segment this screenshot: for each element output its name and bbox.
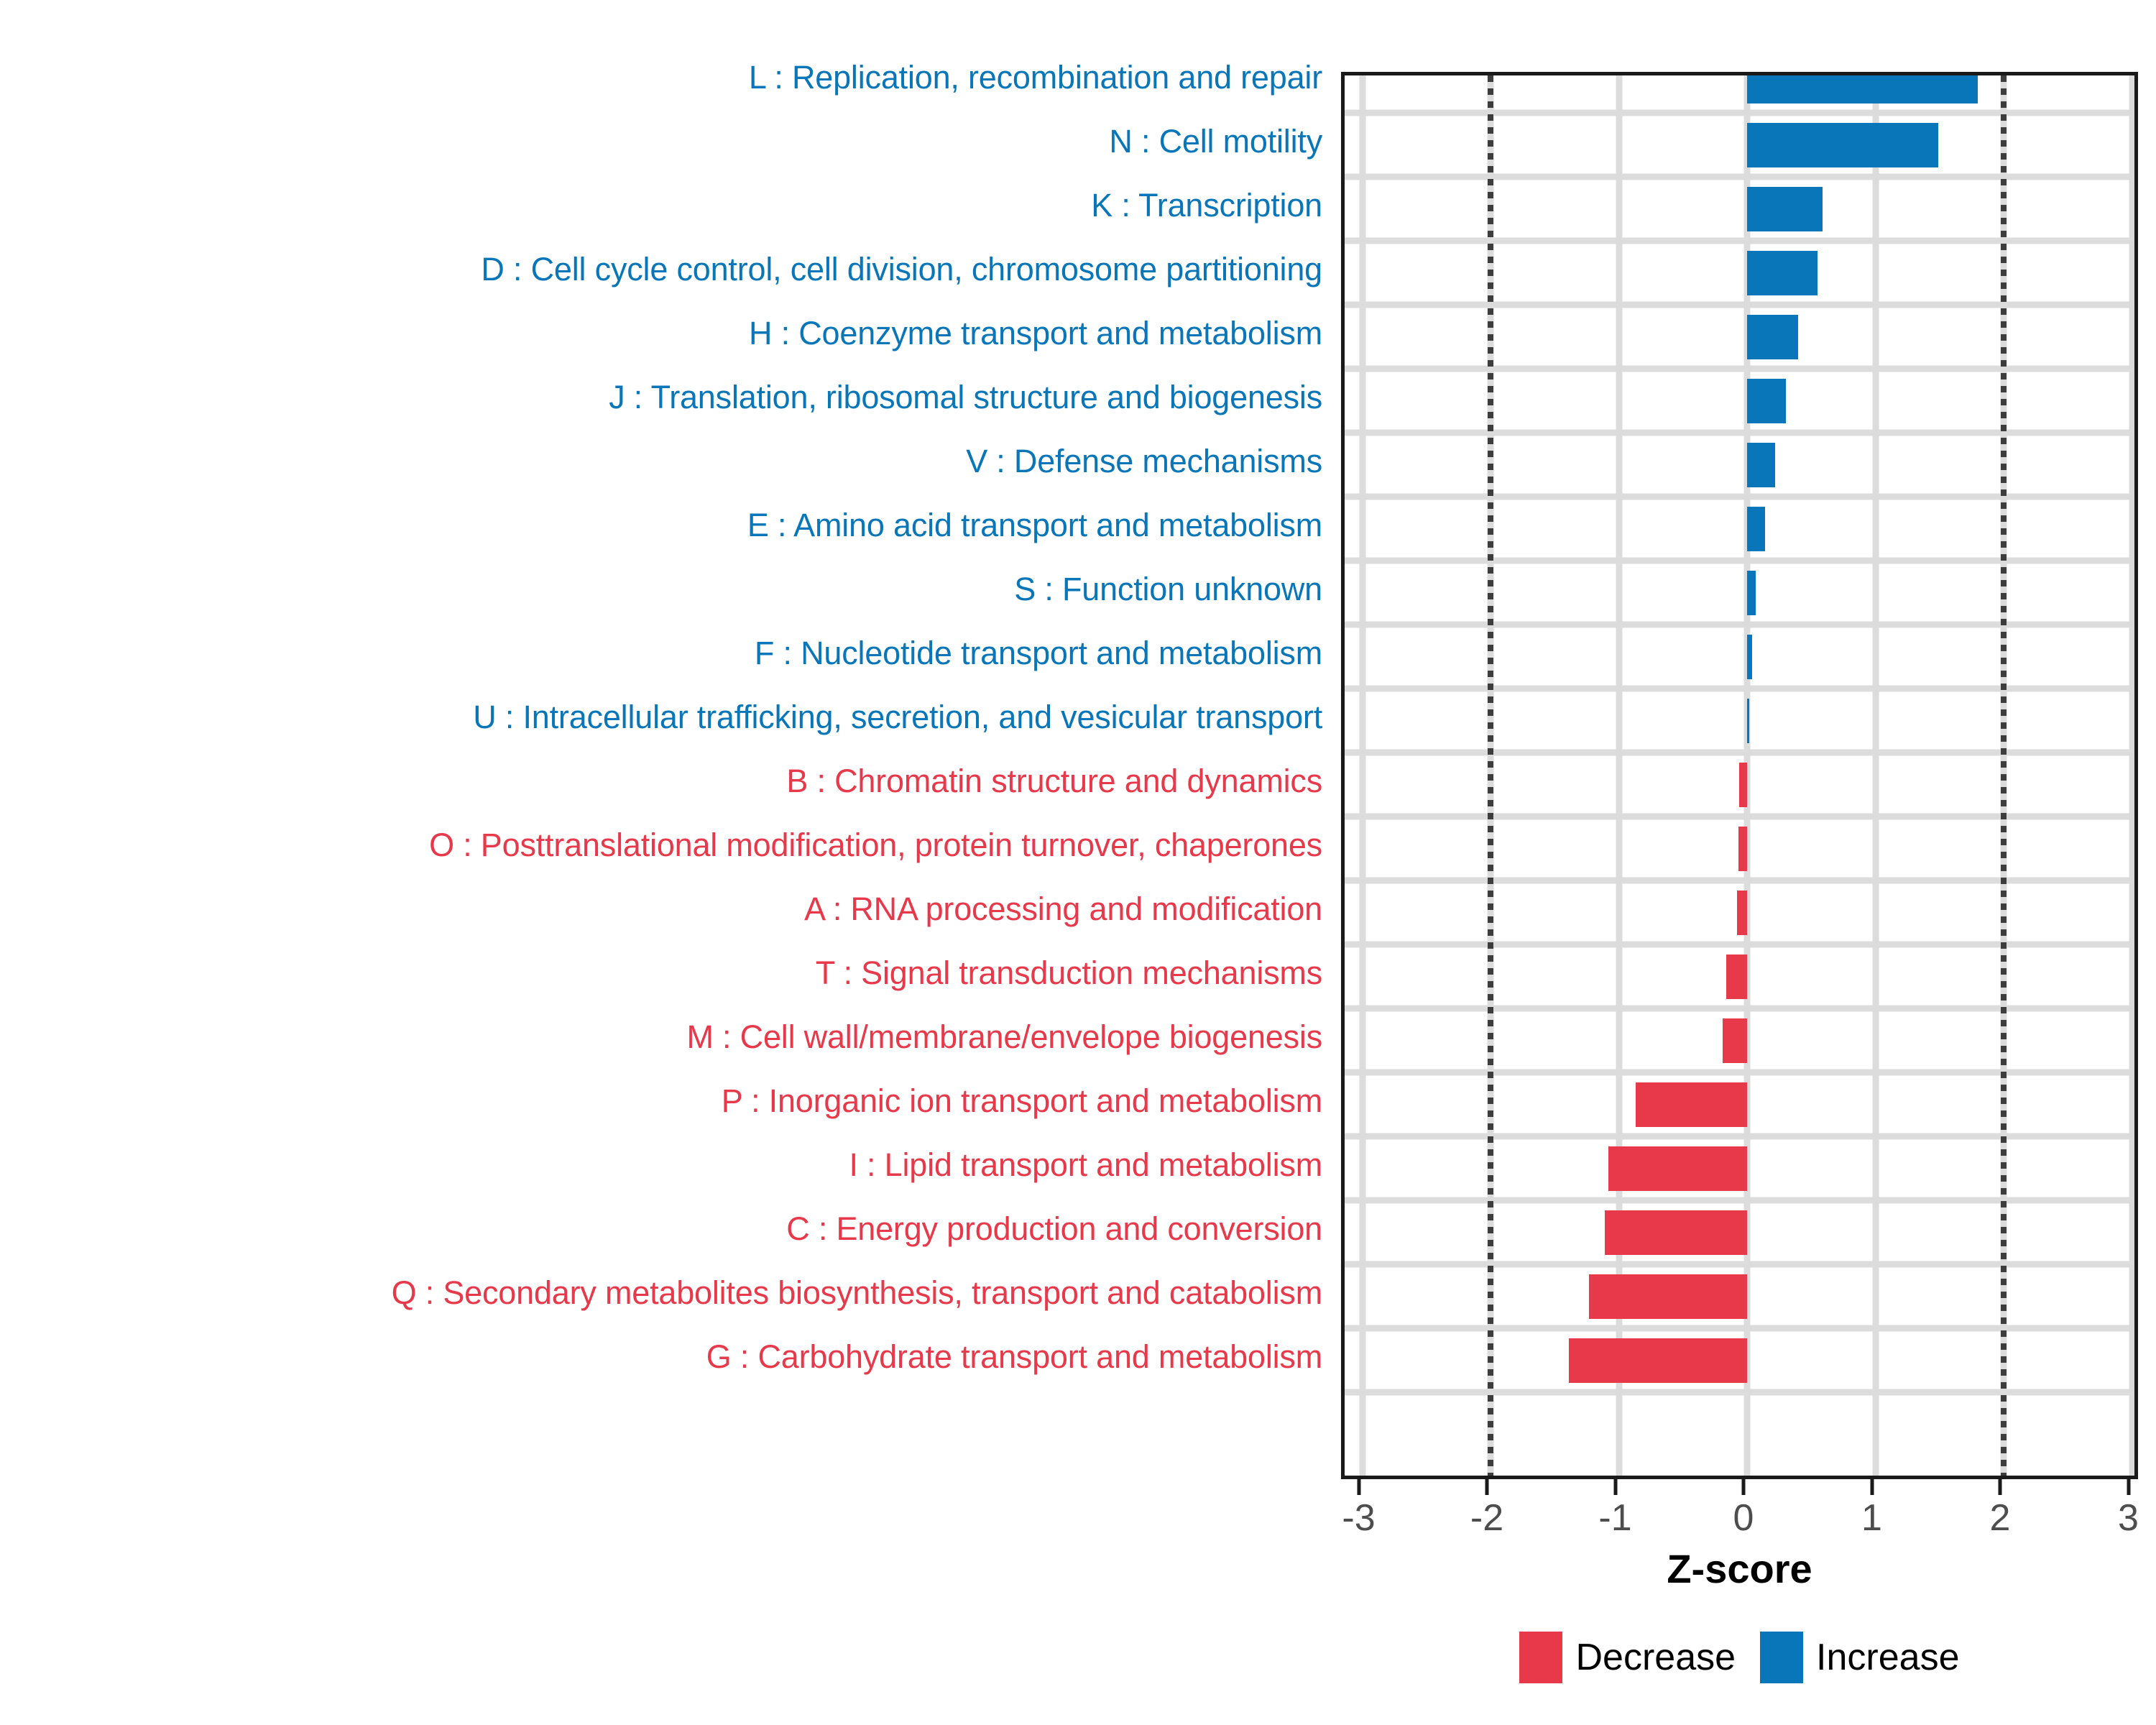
category-label: V : Defense mechanisms (966, 429, 1322, 493)
y-gridline (1345, 750, 2134, 756)
bar[interactable] (1589, 1274, 1747, 1319)
legend-label-increase: Increase (1816, 1636, 1959, 1679)
category-label: N : Cell motility (1109, 109, 1322, 173)
y-gridline (1345, 366, 2134, 372)
category-label: U : Intracellular trafficking, secretion… (473, 685, 1322, 749)
category-label: P : Inorganic ion transport and metaboli… (722, 1069, 1322, 1133)
reference-line (2001, 75, 2007, 1476)
x-tick-label: -1 (1598, 1496, 1631, 1540)
category-label: C : Energy production and conversion (786, 1197, 1322, 1261)
category-label: J : Translation, ribosomal structure and… (609, 365, 1322, 429)
y-gridline (1345, 238, 2134, 244)
y-gridline (1345, 1197, 2134, 1204)
category-label: B : Chromatin structure and dynamics (786, 749, 1322, 813)
legend: Decrease Increase (1341, 1632, 2138, 1683)
category-label: H : Coenzyme transport and metabolism (749, 301, 1322, 365)
bar[interactable] (1608, 1146, 1747, 1191)
legend-item-increase[interactable]: Increase (1760, 1632, 1959, 1683)
y-gridline (1345, 110, 2134, 116)
bar[interactable] (1605, 1210, 1747, 1255)
category-label: L : Replication, recombination and repai… (749, 45, 1322, 109)
y-gridline (1345, 1006, 2134, 1012)
y-gridline (1345, 558, 2134, 564)
x-tick-label: 0 (1733, 1496, 1754, 1540)
x-tick (1613, 1479, 1617, 1495)
category-label: G : Carbohydrate transport and metabolis… (706, 1325, 1322, 1389)
bar[interactable] (1747, 379, 1786, 423)
category-label: E : Amino acid transport and metabolism (747, 493, 1322, 557)
y-gridline (1345, 942, 2134, 948)
category-label: F : Nucleotide transport and metabolism (755, 621, 1322, 685)
category-label-column: L : Replication, recombination and repai… (0, 72, 1335, 1479)
x-tick (2127, 1479, 2130, 1495)
y-gridline (1345, 1133, 2134, 1140)
x-tick (1485, 1479, 1489, 1495)
bar[interactable] (1747, 251, 1818, 295)
y-gridline (1345, 622, 2134, 628)
category-label: S : Function unknown (1014, 557, 1322, 621)
bar[interactable] (1747, 571, 1756, 615)
y-gridline (1345, 1069, 2134, 1076)
bar[interactable] (1636, 1082, 1747, 1127)
y-gridline (1345, 878, 2134, 884)
bar[interactable] (1747, 443, 1775, 487)
bar[interactable] (1747, 699, 1749, 743)
legend-item-decrease[interactable]: Decrease (1519, 1632, 1736, 1683)
bar[interactable] (1723, 1018, 1747, 1063)
x-tick-label: 1 (1861, 1496, 1882, 1540)
x-tick-label: 3 (2118, 1496, 2139, 1540)
reference-line (1488, 75, 1493, 1476)
y-gridline (1345, 494, 2134, 500)
category-label: T : Signal transduction mechanisms (816, 941, 1322, 1005)
bar[interactable] (1738, 827, 1747, 871)
category-label: Q : Secondary metabolites biosynthesis, … (392, 1261, 1322, 1325)
category-label: O : Posttranslational modification, prot… (429, 813, 1322, 877)
bar[interactable] (1739, 763, 1747, 807)
x-axis-title: Z-score (1341, 1545, 2138, 1592)
y-gridline (1345, 1261, 2134, 1268)
bar[interactable] (1747, 315, 1798, 359)
legend-swatch-increase-icon (1760, 1632, 1803, 1683)
plot-area (1345, 75, 2134, 1476)
y-gridline (1345, 1325, 2134, 1332)
bar[interactable] (1726, 954, 1747, 999)
y-gridline (1345, 1389, 2134, 1396)
y-gridline (1345, 174, 2134, 180)
y-gridline (1345, 686, 2134, 692)
bar[interactable] (1747, 123, 1938, 167)
category-label: M : Cell wall/membrane/envelope biogenes… (686, 1005, 1322, 1069)
cog-category-zscore-chart: L : Replication, recombination and repai… (0, 0, 2156, 1725)
x-tick (1870, 1479, 1874, 1495)
bar[interactable] (1747, 507, 1765, 551)
x-tick-label: -2 (1470, 1496, 1503, 1540)
x-tick-label: 2 (1990, 1496, 2011, 1540)
y-gridline (1345, 430, 2134, 436)
bar[interactable] (1737, 891, 1747, 935)
x-tick-label: -3 (1342, 1496, 1375, 1540)
category-label: A : RNA processing and modification (804, 877, 1322, 941)
x-tick (1742, 1479, 1746, 1495)
bar[interactable] (1747, 635, 1752, 679)
category-label: K : Transcription (1091, 173, 1322, 237)
category-label: I : Lipid transport and metabolism (849, 1133, 1322, 1197)
legend-label-decrease: Decrease (1575, 1636, 1736, 1679)
y-gridline (1345, 302, 2134, 308)
x-tick (1999, 1479, 2002, 1495)
bar[interactable] (1747, 75, 1978, 103)
category-label: D : Cell cycle control, cell division, c… (481, 237, 1322, 301)
y-gridline (1345, 814, 2134, 820)
bar[interactable] (1569, 1338, 1747, 1383)
x-tick (1357, 1479, 1360, 1495)
legend-swatch-decrease-icon (1519, 1632, 1562, 1683)
bar[interactable] (1747, 187, 1823, 231)
plot-panel (1341, 72, 2138, 1479)
